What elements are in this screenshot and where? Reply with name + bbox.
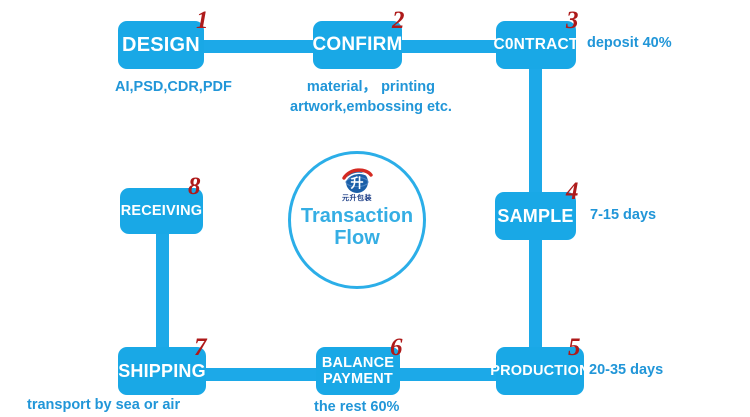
step-node-balance-payment[interactable]: BALANCE PAYMENT: [316, 347, 400, 395]
step-number-8: 8: [188, 174, 201, 199]
connector-balance-to-shipping: [200, 368, 330, 381]
caption-balance-payment: the rest 60%: [314, 398, 399, 417]
logo-chinese-text: 元升包装: [329, 195, 385, 202]
caption-shipping: transport by sea or air: [27, 396, 180, 416]
connector-contract-to-sample: [529, 62, 542, 207]
caption-production: 20-35 days: [589, 361, 663, 381]
step-number-2: 2: [392, 8, 405, 33]
caption-contract: deposit 40%: [587, 34, 672, 54]
logo-globe-icon: 升: [340, 166, 374, 194]
step-node-sample-label: SAMPLE: [497, 206, 573, 226]
step-number-5: 5: [568, 335, 581, 360]
step-node-balance-payment-label-line2: PAYMENT: [323, 371, 393, 387]
step-number-3: 3: [566, 8, 579, 33]
step-node-confirm-label: CONFIRM: [312, 34, 402, 55]
step-node-shipping-label: SHIPPING: [118, 361, 206, 381]
connector-shipping-to-receiving: [156, 232, 169, 362]
caption-sample: 7-15 days: [590, 206, 656, 226]
step-node-shipping[interactable]: SHIPPING: [118, 347, 206, 395]
logo-glyph: 升: [350, 176, 363, 192]
caption-design: AI,PSD,CDR,PDF: [115, 78, 232, 98]
step-number-6: 6: [390, 335, 403, 360]
step-node-production-label: PRODUCTION: [490, 363, 589, 379]
center-title-line1: Transaction: [288, 205, 426, 227]
step-node-sample[interactable]: SAMPLE: [495, 192, 576, 240]
transaction-flow-diagram: DESIGN CONFIRM C0NTRACT SAMPLE PRODUCTIO…: [0, 0, 750, 417]
center-title-line2: Flow: [288, 227, 426, 249]
connector-confirm-to-contract: [398, 40, 503, 53]
step-node-contract[interactable]: C0NTRACT: [496, 21, 576, 69]
step-node-contract-label: C0NTRACT: [493, 36, 578, 53]
company-logo: 升 元升包装: [329, 166, 385, 204]
step-number-7: 7: [194, 335, 207, 360]
step-node-confirm[interactable]: CONFIRM: [313, 21, 402, 69]
step-node-design[interactable]: DESIGN: [118, 21, 204, 69]
connector-design-to-confirm: [200, 40, 320, 53]
connector-production-to-balance: [400, 368, 505, 381]
caption-confirm: material， printing artwork,embossing etc…: [290, 78, 452, 117]
center-title: Transaction Flow: [288, 205, 426, 250]
step-number-4: 4: [566, 179, 579, 204]
step-node-receiving-label: RECEIVING: [121, 203, 203, 219]
step-node-design-label: DESIGN: [122, 34, 200, 56]
step-node-balance-payment-label-line1: BALANCE: [322, 355, 394, 371]
step-number-1: 1: [196, 8, 209, 33]
connector-sample-to-production: [529, 232, 542, 362]
